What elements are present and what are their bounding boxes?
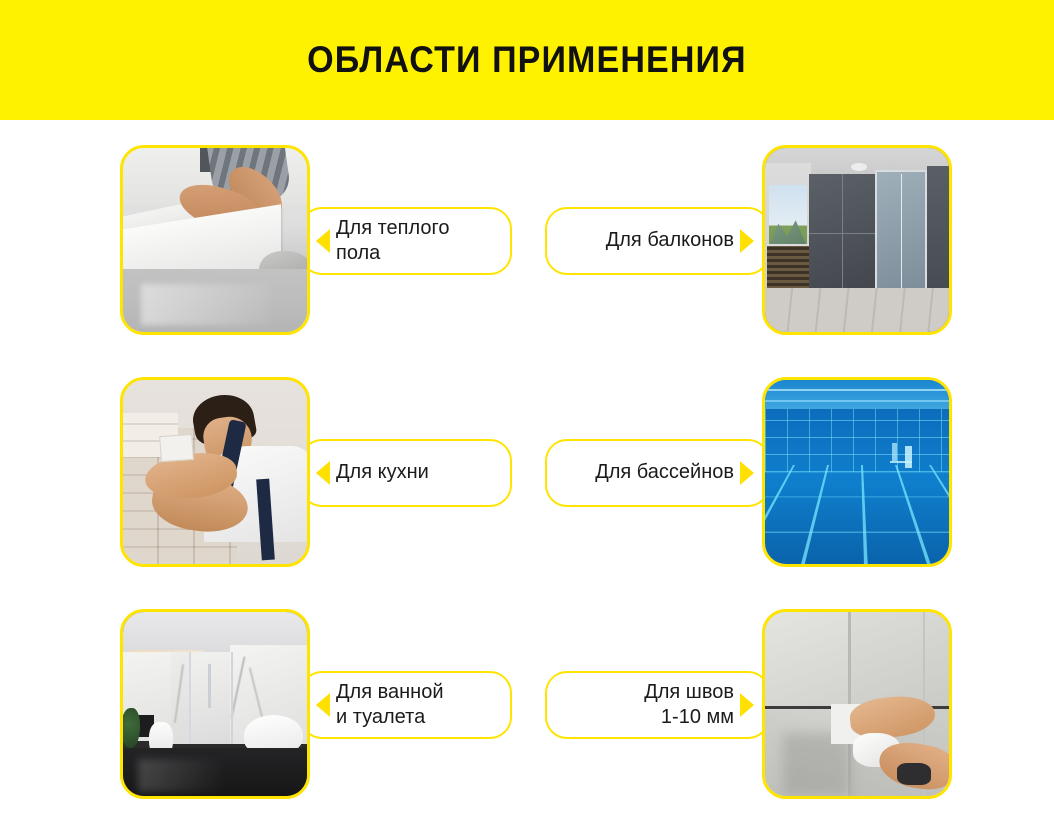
- balcony-photo: [765, 148, 949, 332]
- triangle-right-icon: [740, 461, 754, 485]
- card-image-bathroom: [120, 609, 310, 799]
- card-label-text: Для кухни: [336, 460, 429, 485]
- application-areas-board: Для теплого пола Для балконов: [0, 120, 1054, 822]
- triangle-right-icon: [740, 229, 754, 253]
- grout-photo: [765, 612, 949, 796]
- card-image-balconies: [762, 145, 952, 335]
- card-row: Для кухни Для бассейнов: [0, 377, 1054, 569]
- triangle-left-icon: [316, 229, 330, 253]
- bathroom-photo: [123, 612, 307, 796]
- card-label-warm-floor[interactable]: Для теплого пола: [300, 207, 512, 275]
- card-label-balconies[interactable]: Для балконов: [545, 207, 770, 275]
- card-label-text: Для швов 1-10 мм: [644, 680, 734, 730]
- card-label-text: Для балконов: [606, 228, 734, 253]
- header-band: ОБЛАСТИ ПРИМЕНЕНИЯ: [0, 0, 1054, 120]
- card-image-kitchen: [120, 377, 310, 567]
- page-title: ОБЛАСТИ ПРИМЕНЕНИЯ: [307, 39, 747, 81]
- card-label-text: Для ванной и туалета: [336, 680, 444, 730]
- triangle-right-icon: [740, 693, 754, 717]
- card-label-kitchen[interactable]: Для кухни: [300, 439, 512, 507]
- card-image-pools: [762, 377, 952, 567]
- card-row: Для ванной и туалета Для швов 1-10 мм: [0, 609, 1054, 801]
- triangle-left-icon: [316, 693, 330, 717]
- card-image-warm-floor: [120, 145, 310, 335]
- card-row: Для теплого пола Для балконов: [0, 145, 1054, 337]
- card-label-joints[interactable]: Для швов 1-10 мм: [545, 671, 770, 739]
- card-label-pools[interactable]: Для бассейнов: [545, 439, 770, 507]
- kitchen-photo: [123, 380, 307, 564]
- card-label-bathroom[interactable]: Для ванной и туалета: [300, 671, 512, 739]
- pool-photo: [765, 380, 949, 564]
- card-image-joints: [762, 609, 952, 799]
- triangle-left-icon: [316, 461, 330, 485]
- warm-floor-photo: [123, 148, 307, 332]
- card-label-text: Для теплого пола: [336, 216, 450, 266]
- card-label-text: Для бассейнов: [595, 460, 734, 485]
